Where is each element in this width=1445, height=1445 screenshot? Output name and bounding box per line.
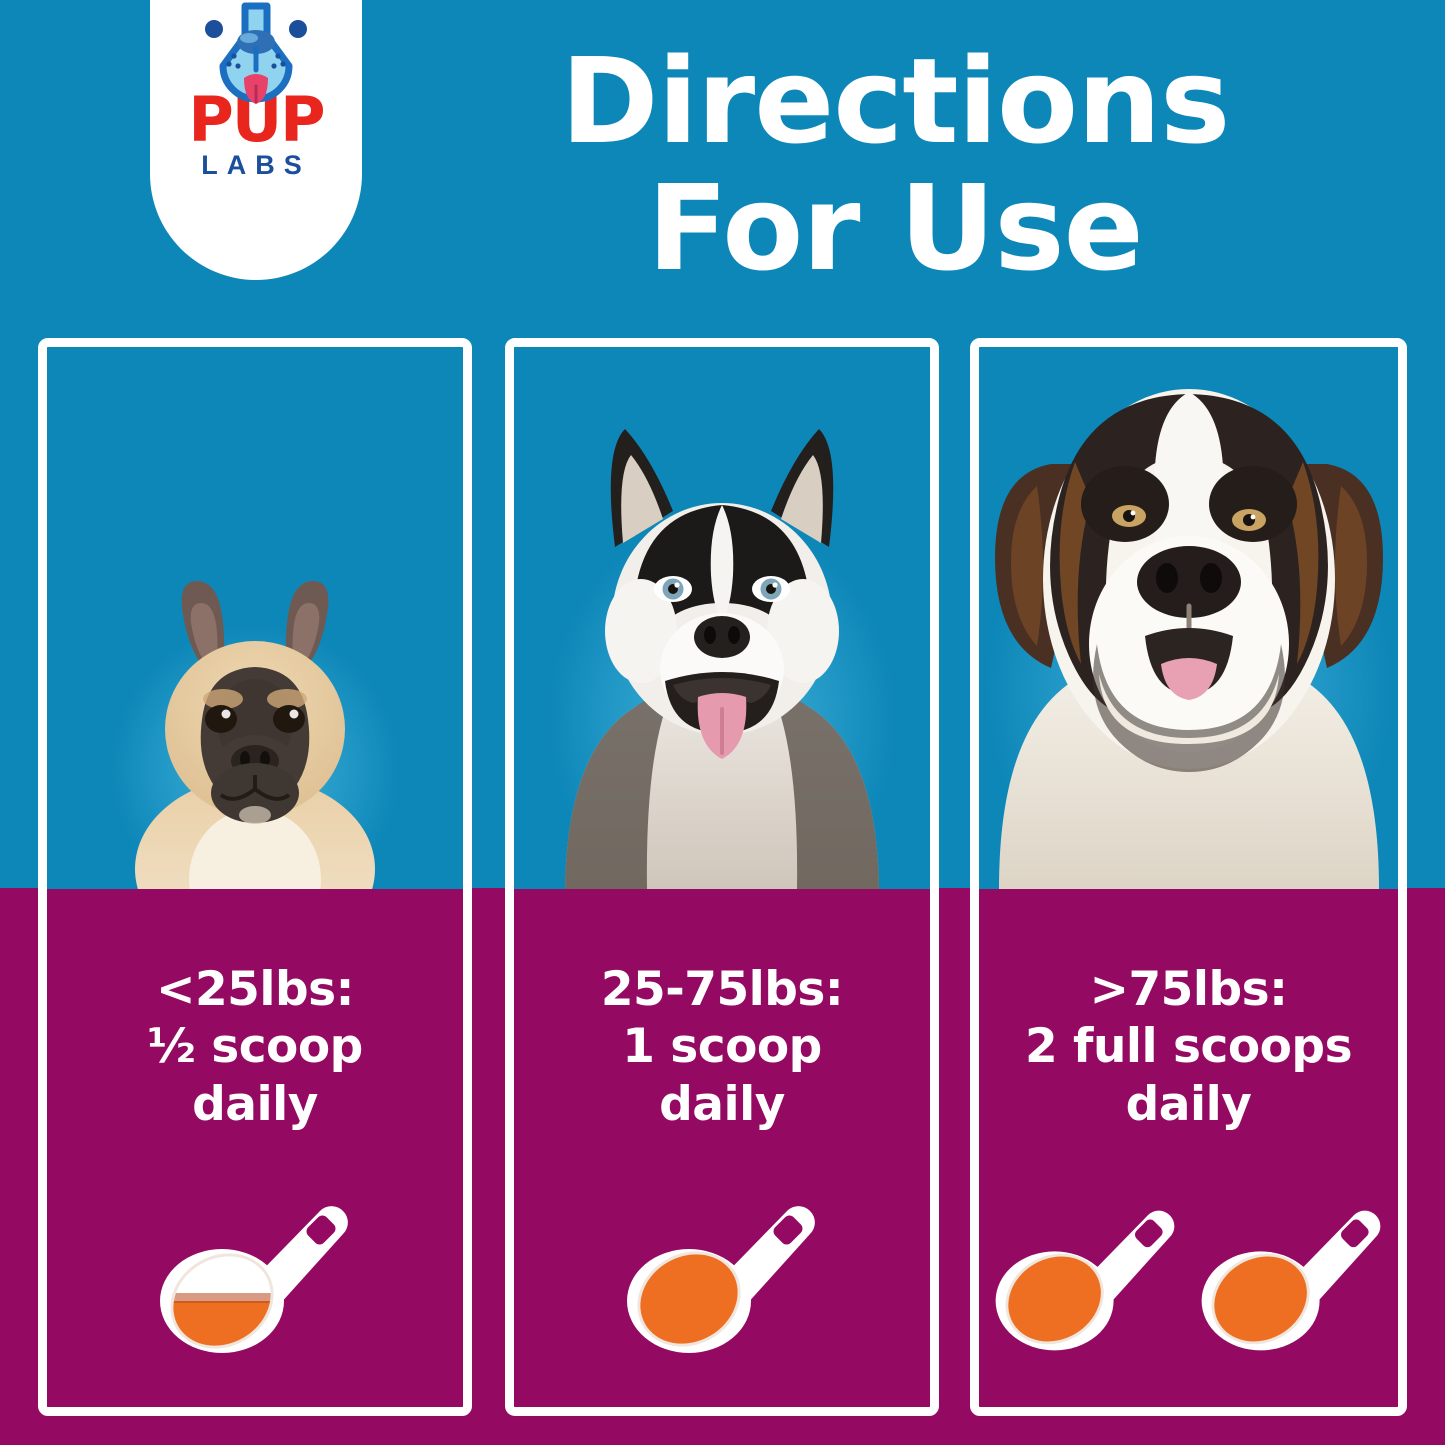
dosage-panel-large-dog: >75lbs: 2 full scoops daily [970,338,1407,1416]
dosage-info-small: <25lbs: ½ scoop daily [47,889,463,1407]
page-title-line-1: Directions [561,32,1230,170]
dosage-panel-medium-dog: 25-75lbs: 1 scoop daily [505,338,939,1416]
dose-line2-medium: daily [520,1076,924,1133]
dog-photo-area-medium [514,347,930,889]
page-title: Directions For Use [430,38,1360,293]
logo-wordmark-labs: LABS [201,152,311,179]
weight-label-large: >75lbs: [985,961,1392,1018]
dosage-text-large: >75lbs: 2 full scoops daily [979,961,1398,1133]
measuring-scoop-icon-half [152,1197,358,1359]
dog-photo-area-small [47,347,463,889]
pup-labs-logo-badge: PUP LABS [150,0,362,280]
dosage-info-medium: 25-75lbs: 1 scoop daily [514,889,930,1407]
measuring-scoop-icon-full [619,1197,825,1359]
weight-label-medium: 25-75lbs: [520,961,924,1018]
measuring-scoop-icon-full-1 [988,1199,1184,1359]
siberian-husky-photo [557,419,887,889]
dose-line2-small: daily [53,1076,457,1133]
dose-line2-large: daily [985,1076,1392,1133]
scoop-icon-group-medium [514,1197,930,1359]
scoop-icon-group-small [47,1197,463,1359]
directions-for-use-infographic: PUP LABS Directions For Use [0,0,1445,1445]
weight-label-small: <25lbs: [53,961,457,1018]
french-bulldog-photo [125,579,385,889]
dose-line1-medium: 1 scoop [520,1018,924,1075]
scoop-icon-group-large [979,1199,1398,1359]
dosage-info-large: >75lbs: 2 full scoops daily [979,889,1398,1407]
dosage-text-medium: 25-75lbs: 1 scoop daily [514,961,930,1133]
dosage-panel-small-dog: <25lbs: ½ scoop daily [38,338,472,1416]
dosage-text-small: <25lbs: ½ scoop daily [47,961,463,1133]
saint-bernard-photo [989,347,1389,889]
measuring-scoop-icon-full-2 [1194,1199,1390,1359]
dose-line1-large: 2 full scoops [985,1018,1392,1075]
page-title-line-2: For Use [430,165,1360,292]
dog-photo-area-large [979,347,1398,889]
dog-face-flask-icon [196,0,316,110]
dose-line1-small: ½ scoop [53,1018,457,1075]
